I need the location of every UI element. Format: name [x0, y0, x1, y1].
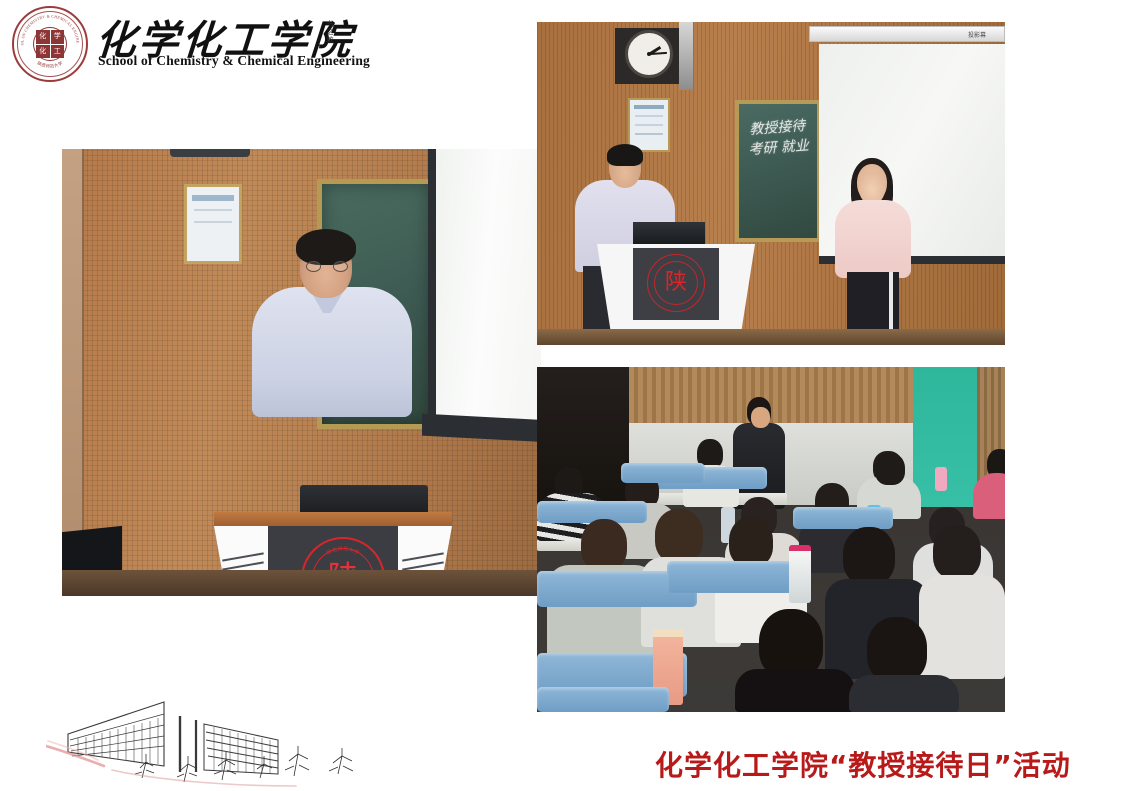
sketch-red-brushstroke [46, 741, 296, 786]
seal-glyph-1: 化 [36, 30, 50, 44]
emblem-glyph: 陕 [648, 270, 704, 296]
wall-side-panel [62, 149, 84, 596]
projector-screen-rail: 投影幕 [809, 26, 1005, 42]
screen-rail-label: 投影幕 [968, 30, 986, 39]
event-caption: 化学化工学院“教授接待日”活动 [655, 744, 1071, 784]
audience-head [655, 509, 703, 563]
emblem-arc-cn-text: 陕西师范大学 [326, 545, 361, 556]
photo-audience-content [537, 367, 1005, 712]
seal-arc-cn: 陕西师范大学 [36, 59, 64, 70]
photo-speaker-at-podium: 陕西师范大学 SHAANXI NORMAL UNIVERSITY 陕 1944 [62, 149, 541, 596]
seat-row [537, 687, 669, 712]
framed-notice [628, 98, 670, 152]
framed-notice [184, 184, 242, 264]
photo-speaker-content: 陕西师范大学 SHAANXI NORMAL UNIVERSITY 陕 1944 [62, 149, 541, 596]
audience-head [867, 617, 927, 683]
seal-glyph-3: 化 [36, 45, 50, 59]
photo-presenters-content: 教授接待 考研 就业 投影幕 陕 [537, 22, 1005, 345]
wall-clock-icon [625, 30, 673, 78]
audience-body [973, 473, 1005, 519]
school-seal-icon: SCHOOL OF CHEMISTRY & CHEMICAL ENGINEERI… [12, 6, 88, 82]
photo-two-presenters: 教授接待 考研 就业 投影幕 陕 [537, 22, 1005, 345]
presenter-woman-sweater [835, 200, 911, 278]
clock-minute-hand [649, 52, 667, 55]
water-bottle [789, 545, 811, 603]
audience-head [933, 525, 981, 579]
seat-row [667, 561, 807, 593]
lecture-hall-floor [62, 570, 541, 596]
audience-body [919, 575, 1005, 679]
speaker-glasses [306, 261, 348, 272]
university-emblem: 陕 [647, 254, 705, 312]
audience-head [729, 517, 773, 567]
seat-row [793, 507, 893, 529]
ceiling-camera [679, 22, 693, 90]
seal-center-glyphs: 化 学 化 工 [36, 30, 64, 58]
chalkboard-handwriting: 教授接待 考研 就业 [744, 116, 813, 161]
clock-center-dot [647, 52, 651, 56]
back-door [537, 367, 629, 507]
emblem-arc-cn: 陕西师范大学 [326, 545, 361, 556]
audience-head [843, 527, 895, 585]
audience-head [875, 453, 905, 485]
campus-building-sketch [46, 694, 391, 791]
header-logo-block: SCHOOL OF CHEMISTRY & CHEMICAL ENGINEERI… [8, 4, 348, 86]
water-bottle [935, 467, 947, 491]
sketch-trees [135, 746, 353, 782]
projection-screen [428, 149, 541, 433]
chalkboard: 教授接待 考研 就业 [735, 100, 821, 242]
classroom-floor [537, 329, 1005, 345]
audience-body [849, 675, 959, 712]
ceiling-fixture [170, 149, 250, 157]
audience-head [581, 519, 627, 571]
sketch-building-left [68, 702, 164, 766]
seal-glyph-2: 学 [51, 30, 65, 44]
photo-student-audience [537, 367, 1005, 712]
seat-row [537, 501, 647, 523]
seal-arc-cn-text: 陕西师范大学 [36, 59, 64, 70]
audience-body [735, 669, 855, 712]
standing-man-face [751, 407, 770, 428]
seal-glyph-4: 工 [51, 45, 65, 59]
speaker-hair [296, 229, 356, 265]
presenter-man-hair [607, 144, 643, 166]
seat-row [621, 463, 705, 483]
school-title-english: School of Chemistry & Chemical Engineeri… [98, 53, 370, 69]
